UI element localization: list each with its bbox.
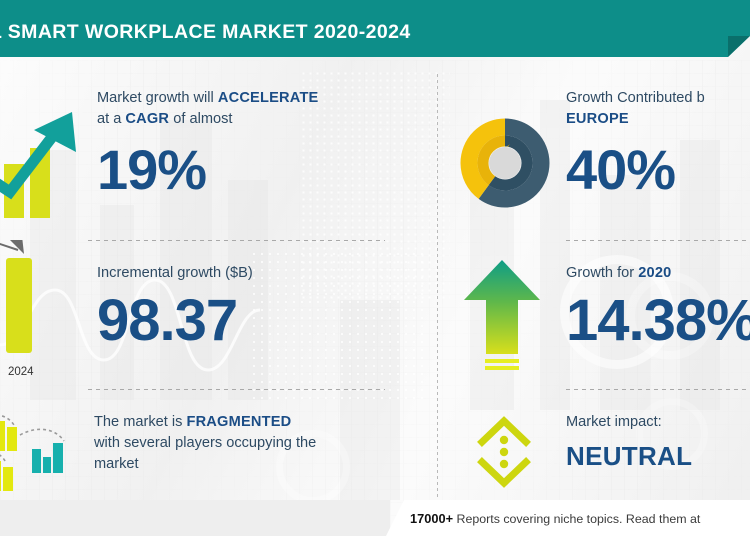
divider-left-1 — [88, 240, 385, 241]
growth-year-label: Growth for 2020 — [566, 263, 750, 284]
footer-report-text: Reports covering niche topics. Read them… — [457, 512, 701, 526]
cagr-line1-bold: ACCELERATE — [218, 90, 319, 106]
page-title: L SMART WORKPLACE MARKET 2020-2024 — [0, 21, 411, 44]
cagr-line2-pre: at a — [97, 111, 125, 127]
growth-chart-icon — [0, 100, 88, 220]
cagr-line2-bold: CAGR — [125, 111, 169, 127]
panel-region: Growth Contributed b EUROPE 40% — [566, 88, 750, 198]
footer-report-count: 17000+ — [410, 511, 453, 526]
header-banner: L SMART WORKPLACE MARKET 2020-2024 — [0, 0, 750, 57]
bar-2024-year-label: 2024 — [8, 366, 34, 378]
region-label: Growth Contributed b — [566, 90, 705, 106]
growth-year-label-pre: Growth for — [566, 265, 638, 281]
vertical-divider — [437, 74, 438, 501]
cagr-line1-pre: Market growth will — [97, 90, 218, 106]
divider-right-1 — [566, 240, 750, 241]
incremental-label: Incremental growth ($B) — [97, 263, 397, 284]
panel-growth-year: Growth for 2020 14.38% — [566, 263, 750, 350]
impact-value: NEUTRAL — [566, 441, 750, 472]
region-description: Growth Contributed b EUROPE — [566, 88, 750, 130]
region-name: EUROPE — [566, 111, 629, 127]
up-down-chevron-icon — [476, 414, 532, 490]
panel-incremental-growth: Incremental growth ($B) 98.37 — [97, 263, 397, 350]
cagr-line2-post: of almost — [169, 111, 232, 127]
fragmentation-line3: market — [94, 456, 139, 472]
fragmentation-line1-pre: The market is — [94, 414, 186, 430]
growth-year-label-bold: 2020 — [638, 265, 671, 281]
panel-market-impact: Market impact: NEUTRAL — [566, 412, 750, 472]
cagr-description: Market growth will ACCELERATE at a CAGR … — [97, 88, 397, 130]
fragmentation-line2: with several players occupying the — [94, 435, 316, 451]
impact-label: Market impact: — [566, 412, 750, 433]
divider-left-2 — [88, 389, 385, 390]
bar-2024-icon — [0, 240, 64, 360]
divider-right-2 — [566, 389, 750, 390]
footer-left-strip — [0, 500, 390, 536]
footer-text: 17000+ Reports covering niche topics. Re… — [410, 511, 700, 526]
panel-fragmentation: The market is FRAGMENTED with several pl… — [94, 412, 404, 475]
region-value: 40% — [566, 142, 750, 198]
fragmentation-line1-bold: FRAGMENTED — [186, 414, 291, 430]
up-arrow-icon — [460, 258, 544, 382]
growth-year-value: 14.38% — [566, 292, 750, 350]
fragmentation-description: The market is FRAGMENTED with several pl… — [94, 412, 404, 475]
panel-cagr: Market growth will ACCELERATE at a CAGR … — [97, 88, 397, 198]
donut-chart-icon — [455, 113, 555, 213]
cagr-value: 19% — [97, 142, 397, 198]
city-clusters-icon — [0, 405, 90, 505]
incremental-value: 98.37 — [97, 292, 397, 350]
